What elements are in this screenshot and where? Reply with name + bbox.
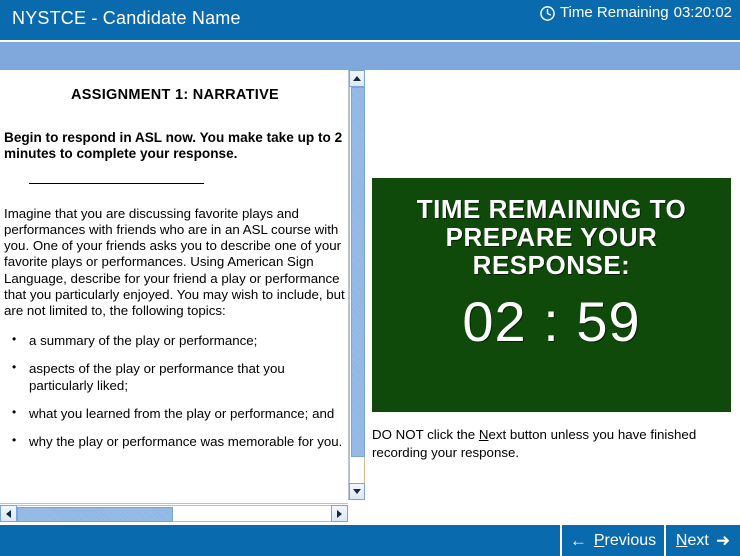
response-pane: TIME REMAINING TO PREPARE YOUR RESPONSE:… — [366, 70, 740, 525]
list-item: aspects of the play or performance that … — [4, 361, 346, 393]
passage-vertical-scrollbar[interactable] — [348, 70, 365, 500]
scroll-up-arrow-icon — [353, 76, 361, 81]
previous-button-label: Previous — [594, 532, 656, 550]
next-label-rest: ext — [687, 532, 708, 549]
list-item: what you learned from the play or perfor… — [4, 406, 346, 422]
header-bar: NYSTCE - Candidate Name Time Remaining 0… — [0, 0, 740, 40]
navigation-buttons: ← Previous Next ➜ — [560, 525, 740, 556]
warning-prefix: DO NOT click the — [372, 427, 479, 442]
scroll-down-arrow-icon — [353, 489, 361, 494]
previous-label-rest: revious — [605, 532, 657, 549]
divider-rule — [29, 183, 204, 184]
preparation-timer-heading: TIME REMAINING TO PREPARE YOUR RESPONSE: — [382, 195, 721, 279]
preparation-timer-value: 02 : 59 — [372, 289, 731, 354]
next-button-label: Next — [676, 532, 709, 550]
scroll-right-button[interactable] — [331, 505, 348, 522]
page-title: NYSTCE - Candidate Name — [12, 8, 241, 29]
assignment-title: ASSIGNMENT 1: NARRATIVE — [4, 87, 346, 104]
arrow-left-icon: ← — [570, 532, 587, 549]
next-button-warning: DO NOT click the Next button unless you … — [372, 426, 728, 462]
time-remaining-value: 03:20:02 — [674, 4, 732, 21]
time-remaining-display: Time Remaining 03:20:02 — [540, 4, 732, 21]
arrow-right-icon: ➜ — [716, 532, 730, 549]
next-accel-key: N — [676, 532, 688, 549]
subheader-bar — [0, 42, 740, 70]
exam-window: NYSTCE - Candidate Name Time Remaining 0… — [0, 0, 740, 556]
passage-content: ASSIGNMENT 1: NARRATIVE Begin to respond… — [4, 70, 346, 462]
scroll-left-arrow-icon — [6, 510, 11, 518]
horizontal-scroll-thumb[interactable] — [17, 507, 173, 522]
navigation-bar: ← Previous Next ➜ — [0, 525, 740, 556]
assignment-body: Imagine that you are discussing favorite… — [4, 206, 346, 320]
passage-horizontal-scrollbar[interactable] — [0, 503, 348, 522]
vertical-scroll-track[interactable] — [349, 87, 365, 483]
assignment-instruction: Begin to respond in ASL now. You make ta… — [4, 130, 346, 163]
list-item: why the play or performance was memorabl… — [4, 434, 346, 450]
time-remaining-label: Time Remaining — [560, 4, 669, 21]
vertical-scroll-thumb[interactable] — [351, 87, 365, 457]
scroll-down-button[interactable] — [349, 483, 365, 500]
previous-accel-key: P — [594, 532, 605, 549]
preparation-timer-panel: TIME REMAINING TO PREPARE YOUR RESPONSE:… — [372, 178, 731, 412]
warning-accel-key: N — [479, 427, 489, 442]
clock-icon — [540, 6, 555, 21]
scroll-up-button[interactable] — [349, 70, 365, 87]
assignment-topics-list: a summary of the play or performance; as… — [4, 333, 346, 450]
next-button[interactable]: Next ➜ — [664, 525, 740, 556]
passage-pane: ASSIGNMENT 1: NARRATIVE Begin to respond… — [0, 70, 348, 500]
scroll-right-arrow-icon — [337, 510, 342, 518]
horizontal-scroll-track[interactable] — [17, 505, 331, 522]
previous-button[interactable]: ← Previous — [560, 525, 664, 556]
list-item: a summary of the play or performance; — [4, 333, 346, 349]
scroll-left-button[interactable] — [0, 505, 17, 522]
